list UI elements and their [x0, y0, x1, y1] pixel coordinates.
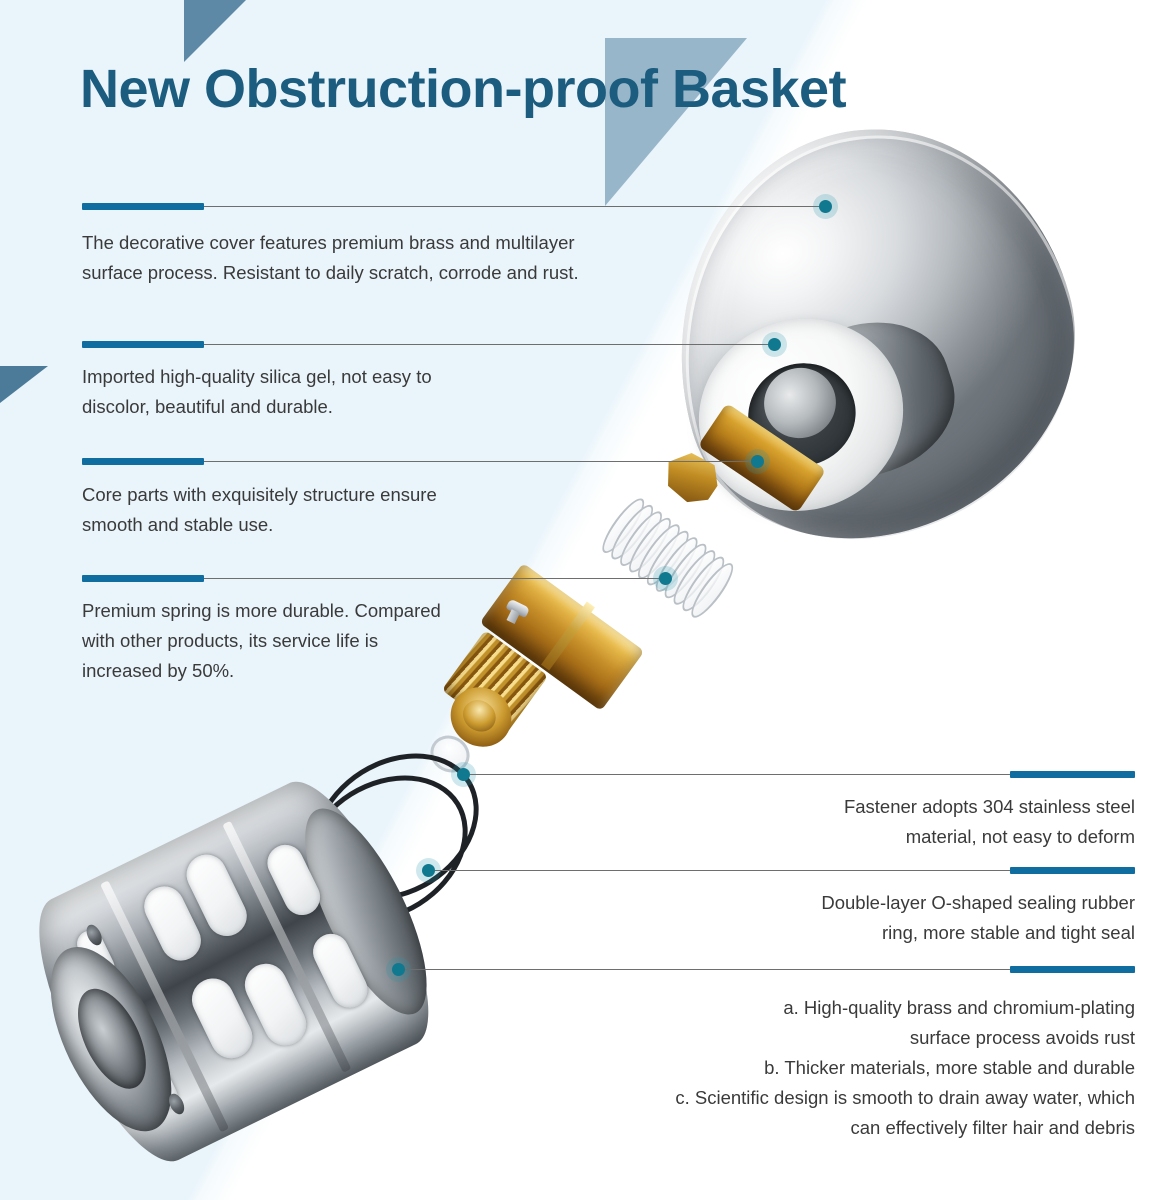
infographic-canvas: The decorative cover features premium br… — [0, 0, 1154, 1200]
accent-bar — [82, 203, 204, 210]
leader-line — [204, 578, 664, 579]
feature-text: Double-layer O-shaped sealing rubber rin… — [635, 888, 1135, 948]
feature-text: The decorative cover features premium br… — [82, 228, 682, 288]
feature-text: Imported high-quality silica gel, not ea… — [82, 362, 602, 422]
leader-line — [204, 461, 756, 462]
marker-dot — [751, 455, 764, 468]
accent-bar — [1010, 966, 1135, 973]
feature-text: Fastener adopts 304 stainless steel mate… — [635, 792, 1135, 852]
accent-bar — [82, 341, 204, 348]
leader-line — [204, 344, 774, 345]
feature-text: Premium spring is more durable. Compared… — [82, 596, 602, 686]
leader-line — [204, 206, 826, 207]
marker-dot — [392, 963, 405, 976]
page-title: New Obstruction-proof Basket — [80, 58, 846, 120]
marker-dot — [819, 200, 832, 213]
leader-line — [405, 969, 1010, 970]
leader-line — [470, 774, 1010, 775]
decor-triangle-left — [0, 366, 48, 440]
accent-bar — [82, 575, 204, 582]
accent-bar — [82, 458, 204, 465]
accent-bar — [1010, 771, 1135, 778]
leader-line — [435, 870, 1010, 871]
marker-dot — [659, 572, 672, 585]
accent-bar — [1010, 867, 1135, 874]
decor-triangle-top — [184, 0, 246, 62]
feature-text: a. High-quality brass and chromium-plati… — [535, 993, 1135, 1143]
chrome-cone-cover — [672, 132, 1082, 562]
marker-dot — [457, 768, 470, 781]
marker-dot — [768, 338, 781, 351]
marker-dot — [422, 864, 435, 877]
feature-text: Core parts with exquisitely structure en… — [82, 480, 602, 540]
